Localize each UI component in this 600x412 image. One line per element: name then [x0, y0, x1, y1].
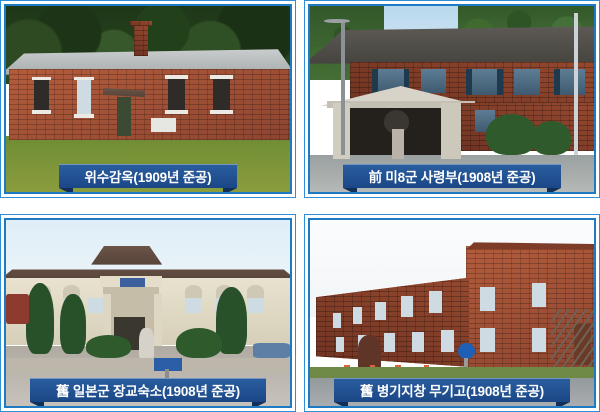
caption-text-1: 위수감옥(1909년 준공): [85, 166, 212, 186]
card-frame: 舊 일본군 장교숙소(1908년 준공): [0, 214, 296, 412]
photo-card-3[interactable]: 舊 일본군 장교숙소(1908년 준공): [0, 214, 296, 412]
photo-card-4[interactable]: 舊 병기지창 무기고(1908년 준공): [304, 214, 600, 412]
photo-card-1[interactable]: 위수감옥(1909년 준공): [0, 0, 296, 198]
card-frame: 舊 병기지창 무기고(1908년 준공): [304, 214, 600, 412]
card-inner: 舊 병기지창 무기고(1908년 준공): [308, 218, 596, 408]
card-inner: 위수감옥(1909년 준공): [4, 4, 292, 194]
caption-text-3: 舊 일본군 장교숙소(1908년 준공): [56, 380, 240, 400]
photo-gallery: 위수감옥(1909년 준공): [0, 0, 600, 412]
caption-text-4: 舊 병기지창 무기고(1908년 준공): [360, 380, 544, 400]
photo-card-2[interactable]: 前 미8군 사령부(1908년 준공): [304, 0, 600, 198]
card-inner: 前 미8군 사령부(1908년 준공): [308, 4, 596, 194]
card-frame: 前 미8군 사령부(1908년 준공): [304, 0, 600, 198]
caption-banner-1[interactable]: 위수감옥(1909년 준공): [59, 164, 238, 188]
caption-banner-4[interactable]: 舊 병기지창 무기고(1908년 준공): [334, 378, 570, 402]
caption-banner-3[interactable]: 舊 일본군 장교숙소(1908년 준공): [30, 378, 266, 402]
caption-banner-2[interactable]: 前 미8군 사령부(1908년 준공): [343, 164, 562, 188]
caption-text-2: 前 미8군 사령부(1908년 준공): [369, 166, 536, 186]
card-inner: 舊 일본군 장교숙소(1908년 준공): [4, 218, 292, 408]
card-frame: 위수감옥(1909년 준공): [0, 0, 296, 198]
